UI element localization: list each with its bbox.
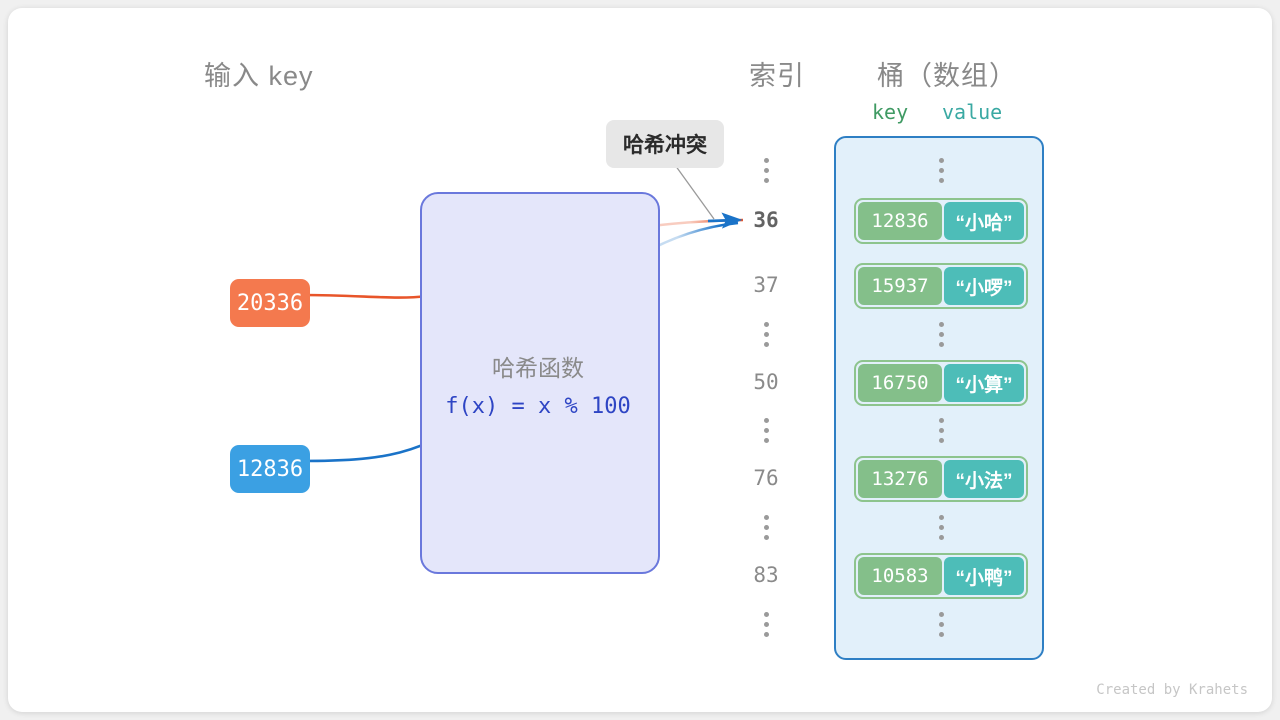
index-ellipsis-icon — [743, 418, 789, 443]
bucket-entry[interactable]: 15937“小啰” — [854, 263, 1028, 309]
input-key-label: 20336 — [237, 291, 303, 316]
entry-key: 13276 — [858, 460, 942, 498]
heading-index: 索引 — [749, 54, 805, 93]
entry-key: 12836 — [858, 202, 942, 240]
bucket-entry[interactable]: 16750“小算” — [854, 360, 1028, 406]
index-label-37: 37 — [743, 273, 789, 297]
entry-value: “小哈” — [944, 202, 1024, 240]
arrow-to-index-36 — [708, 220, 739, 221]
index-label-83: 83 — [743, 563, 789, 587]
bucket-ellipsis-icon — [918, 322, 964, 347]
input-key-chip-20336[interactable]: 20336 — [230, 279, 310, 327]
entry-key: 10583 — [858, 557, 942, 595]
input-key-label: 12836 — [237, 457, 303, 482]
index-ellipsis-icon — [743, 158, 789, 183]
bucket-entry[interactable]: 13276“小法” — [854, 456, 1028, 502]
hash-function-formula: f(x) = x % 100 — [420, 394, 656, 419]
entry-value: “小鸭” — [944, 557, 1024, 595]
column-header-value: value — [942, 100, 1002, 124]
entry-value: “小法” — [944, 460, 1024, 498]
bucket-ellipsis-icon — [918, 418, 964, 443]
credit-text: Created by Krahets — [1096, 682, 1248, 698]
bucket-ellipsis-icon — [918, 158, 964, 183]
hash-collision-callout: 哈希冲突 — [606, 120, 724, 168]
entry-key: 15937 — [858, 267, 942, 305]
bucket-entry[interactable]: 10583“小鸭” — [854, 553, 1028, 599]
diagram-stage: 输入 key 索引 桶（数组） key value 20336 12836 哈希… — [8, 8, 1272, 712]
heading-bucket: 桶（数组） — [877, 54, 1017, 93]
input-key-chip-12836[interactable]: 12836 — [230, 445, 310, 493]
hash-function-title: 哈希函数 — [420, 349, 656, 383]
index-ellipsis-icon — [743, 322, 789, 347]
index-label-36: 36 — [743, 208, 789, 232]
index-ellipsis-icon — [743, 515, 789, 540]
hash-function-box — [420, 192, 660, 574]
index-label-76: 76 — [743, 466, 789, 490]
bucket-ellipsis-icon — [918, 515, 964, 540]
entry-value: “小啰” — [944, 267, 1024, 305]
entry-value: “小算” — [944, 364, 1024, 402]
entry-key: 16750 — [858, 364, 942, 402]
heading-input-key: 输入 key — [204, 54, 314, 93]
index-ellipsis-icon — [743, 612, 789, 637]
bucket-ellipsis-icon — [918, 612, 964, 637]
bucket-entry[interactable]: 12836“小哈” — [854, 198, 1028, 244]
index-label-50: 50 — [743, 370, 789, 394]
column-header-key: key — [872, 100, 908, 124]
diagram-card: 输入 key 索引 桶（数组） key value 20336 12836 哈希… — [8, 8, 1272, 712]
